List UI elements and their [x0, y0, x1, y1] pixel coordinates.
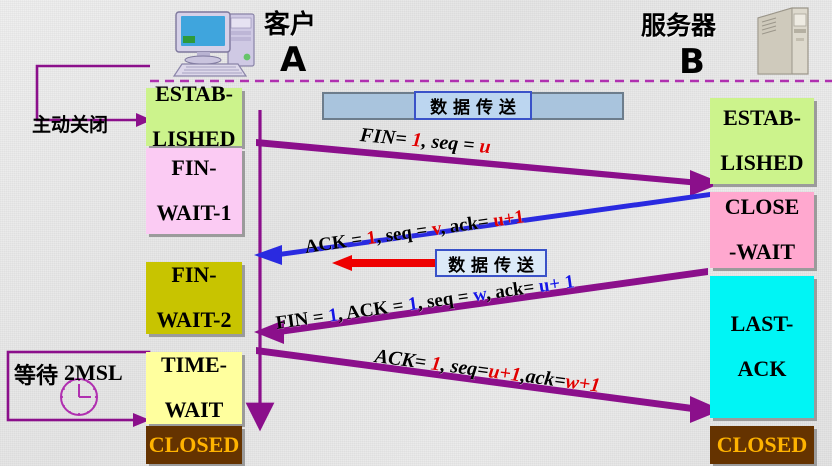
client-state-fin-wait-2: FIN- WAIT-2	[146, 262, 242, 334]
state-line-1: CLOSE	[725, 196, 800, 219]
server-state-last-ack: LAST- ACK	[710, 276, 814, 418]
msg-part: , seq =	[421, 130, 481, 157]
state-line-1: ESTAB-	[152, 83, 235, 106]
server-tower-icon	[752, 4, 814, 80]
client-label: 客户	[264, 4, 316, 41]
state-line-2: -WAIT	[725, 241, 800, 264]
state-line-1: CLOSED	[717, 434, 807, 457]
server-state-close-wait: CLOSE -WAIT	[710, 192, 814, 268]
state-line-2: LISHED	[720, 152, 803, 175]
msg-part: ,ack=	[519, 365, 567, 393]
state-line-1: FIN-	[157, 264, 232, 287]
msg-part: u+ 1	[537, 271, 575, 297]
msg4-ack-arrow	[256, 347, 722, 423]
msg-part: w+1	[564, 371, 601, 397]
state-line-2: WAIT-2	[157, 309, 232, 332]
active-close-label: 主动关闭	[32, 110, 108, 137]
client-state-closed: CLOSED	[146, 426, 242, 464]
state-line-2: WAIT	[161, 399, 227, 422]
server-letter: B	[679, 42, 705, 82]
msg-part: FIN=	[359, 124, 413, 151]
state-line-1: LAST-	[731, 313, 794, 336]
wait-2msl-label-cn: 等待	[14, 358, 58, 390]
client-state-fin-wait-1: FIN- WAIT-1	[146, 148, 242, 234]
state-line-2: WAIT-1	[157, 202, 232, 225]
msg-part: u	[479, 135, 492, 158]
client-state-time-wait: TIME- WAIT	[146, 352, 242, 424]
server-state-established: ESTAB- LISHED	[710, 98, 814, 184]
server-state-closed: CLOSED	[710, 426, 814, 464]
wait-2msl-label-en: 2MSL	[64, 360, 123, 386]
state-line-1: ESTAB-	[720, 107, 803, 130]
msg-part: u+1	[492, 206, 526, 231]
state-line-2: ACK	[731, 358, 794, 381]
client-letter: A	[280, 40, 306, 80]
tcp-teardown-diagram: 客户 A 服务器 B 主动关闭 等待 2MSL ESTAB- LISHED FI…	[0, 0, 832, 466]
server-label: 服务器	[641, 6, 716, 42]
data-transfer-2-label: 数 据 传 送	[435, 249, 547, 277]
desktop-computer-icon	[168, 2, 264, 80]
data-transfer-1-label: 数 据 传 送	[414, 91, 532, 120]
msg-part: u+1	[487, 360, 522, 386]
state-line-1: FIN-	[157, 157, 232, 180]
data-transfer-2-arrow	[332, 255, 438, 271]
state-line-1: TIME-	[161, 354, 227, 377]
client-state-established: ESTAB- LISHED	[146, 88, 242, 146]
state-line-1: CLOSED	[149, 434, 239, 457]
